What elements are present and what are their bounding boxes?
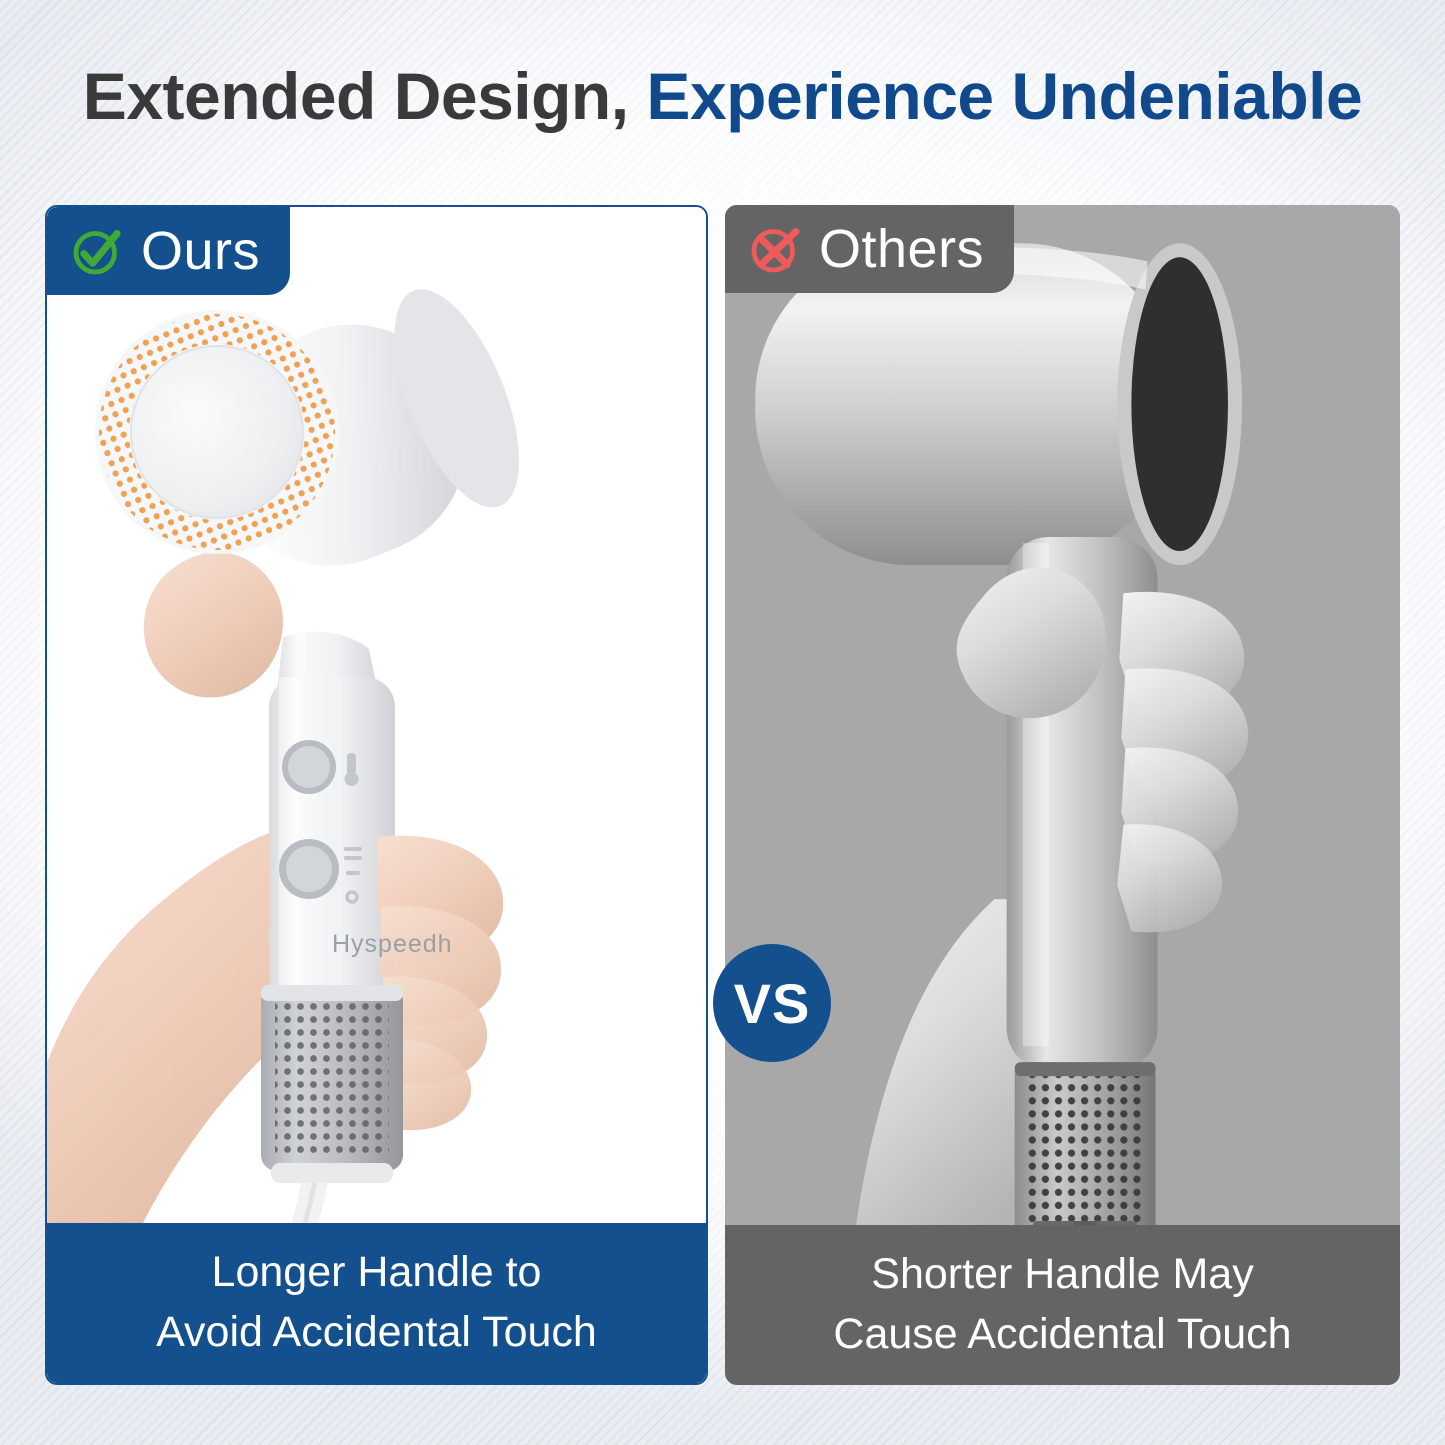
caption-ours-line-2: Avoid Accidental Touch [156,1306,597,1360]
caption-ours: Longer Handle to Avoid Accidental Touch [47,1223,706,1383]
caption-others-line-2: Cause Accidental Touch [833,1308,1291,1362]
badge-others: Others [725,205,1014,293]
panel-ours: Hyspeedh Ours Longer Handle to Avoid Acc… [45,205,708,1385]
badge-ours: Ours [47,207,290,295]
caption-others-line-1: Shorter Handle May [871,1248,1253,1302]
comparison-panels: Hyspeedh Ours Longer Handle to Avoid Acc… [45,205,1400,1385]
others-product-photo [725,205,1400,1225]
caption-ours-line-1: Longer Handle to [212,1246,542,1300]
ours-product-photo: Hyspeedh [47,207,706,1223]
x-circle-icon [747,221,803,277]
page-title-part-one: Extended Design, [83,59,629,133]
caption-others: Shorter Handle May Cause Accidental Touc… [725,1225,1400,1385]
others-hairdryer-illustration [725,205,1400,1225]
ours-hairdryer-illustration: Hyspeedh [47,207,706,1223]
page-title: Extended Design, Experience Undeniable [0,60,1445,133]
svg-text:Hyspeedh: Hyspeedh [332,930,453,958]
badge-ours-label: Ours [141,224,260,278]
badge-others-label: Others [819,222,984,276]
page-title-part-two: Experience Undeniable [646,59,1362,133]
vs-badge: VS [713,944,831,1062]
check-circle-icon [69,223,125,279]
panel-others: Others Shorter Handle May Cause Accident… [725,205,1400,1385]
